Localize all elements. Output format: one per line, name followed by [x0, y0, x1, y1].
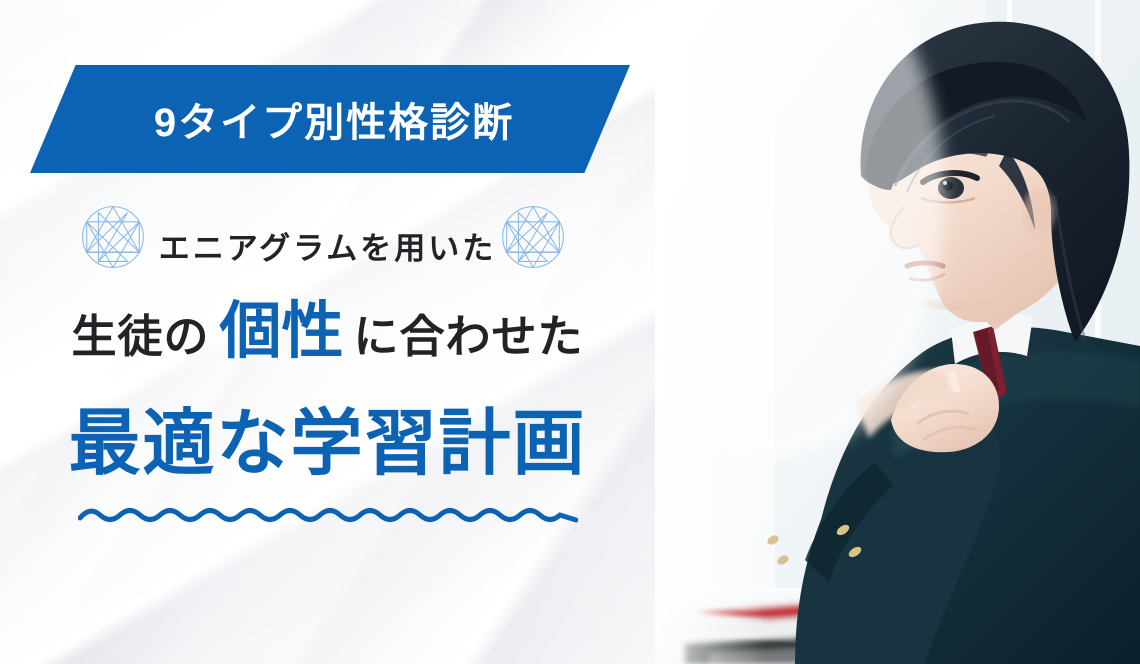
subtitle-text: エニアグラムを用いた: [159, 223, 497, 268]
diagnosis-ribbon: 9タイプ別性格診断: [30, 65, 630, 173]
line3-text: 最適な学習計画: [68, 408, 586, 480]
line2-prefix: 生徒の: [71, 300, 209, 365]
hero-banner: 9タイプ別性格診断 エニアグラムを用いた: [0, 0, 1140, 664]
line2-accent: 個性: [209, 301, 353, 363]
ribbon-label: 9タイプ別性格診断: [154, 90, 514, 148]
wavy-underline-icon: [78, 504, 578, 526]
student-photo: [655, 0, 1140, 664]
headline-line-2: 生徒の 個性 に合わせた: [0, 300, 655, 380]
headline-block: エニアグラムを用いた 生徒の 個性 に合わせた 最適な学習計画: [0, 190, 655, 526]
enneagram-icon: [500, 204, 566, 270]
headline-line-3: 最適な学習計画: [0, 394, 655, 494]
subtitle-row: エニアグラムを用いた: [0, 190, 655, 300]
enneagram-icon: [80, 204, 146, 270]
line2-suffix: に合わせた: [354, 300, 584, 365]
